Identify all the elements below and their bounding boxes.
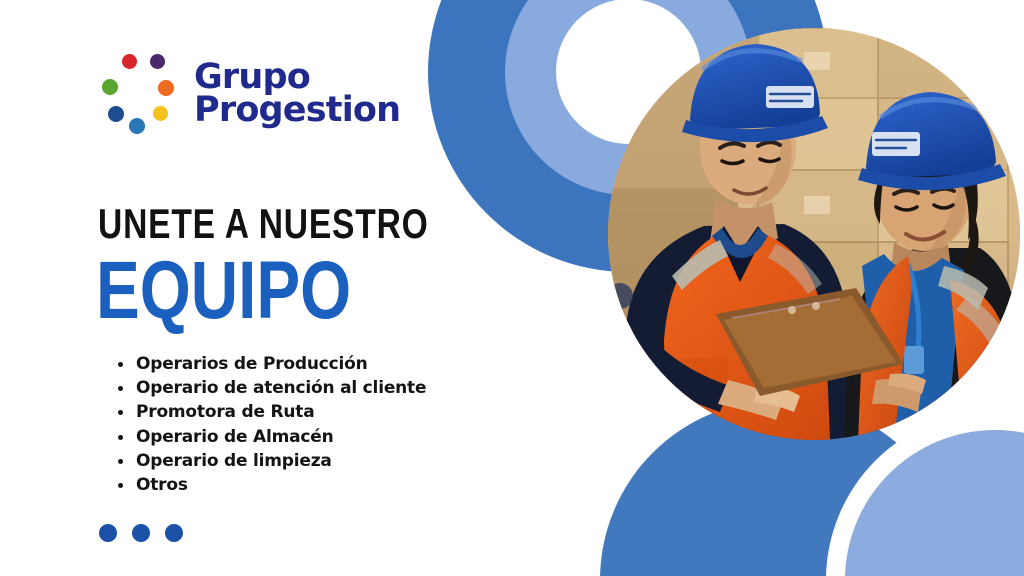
workers-photo xyxy=(608,28,1020,440)
headline-small: UNETE A NUESTRO xyxy=(98,203,429,245)
bottom-dot xyxy=(99,524,117,542)
job-position-item: Operario de Almacén xyxy=(110,425,426,449)
bottom-dot xyxy=(132,524,150,542)
job-position-item: Operario de atención al cliente xyxy=(110,376,426,400)
logo-dot-purple xyxy=(150,54,165,69)
logo-dot-navy xyxy=(108,106,124,122)
brand-logo: Grupo Progestion xyxy=(96,52,400,136)
logo-dot-yellow xyxy=(153,106,168,121)
bottom-decorative-dots xyxy=(99,524,183,542)
left-content: Grupo Progestion UNETE A NUESTRO EQUIPO … xyxy=(0,0,470,576)
job-positions-list: Operarios de ProducciónOperario de atenc… xyxy=(110,352,426,497)
workers-photo-illustration xyxy=(608,28,1020,440)
grupo-progestion-dots-logo xyxy=(96,52,180,136)
logo-dot-orange xyxy=(158,80,174,96)
headline-large: EQUIPO xyxy=(96,250,351,332)
bottom-dot xyxy=(165,524,183,542)
brand-name-line2: Progestion xyxy=(194,94,400,127)
job-position-item: Operario de limpieza xyxy=(110,449,426,473)
recruitment-poster: Grupo Progestion UNETE A NUESTRO EQUIPO … xyxy=(0,0,1024,576)
logo-dot-red xyxy=(122,54,137,69)
logo-dot-green xyxy=(102,79,118,95)
job-position-item: Operarios de Producción xyxy=(110,352,426,376)
logo-dot-lightblue xyxy=(129,118,145,134)
job-position-item: Promotora de Ruta xyxy=(110,400,426,424)
job-position-item: Otros xyxy=(110,473,426,497)
brand-name: Grupo Progestion xyxy=(194,61,400,128)
